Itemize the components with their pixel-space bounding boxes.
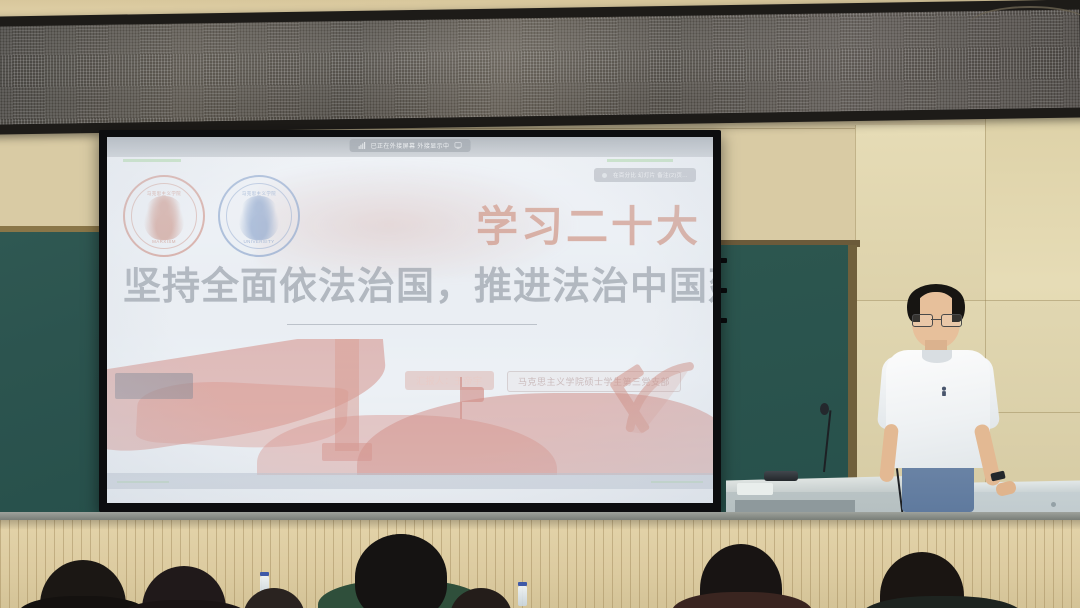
presenter-student <box>880 278 1020 538</box>
water-bottle <box>518 586 527 606</box>
water-bottle-cap <box>260 572 269 576</box>
slat-wall-shadow <box>0 520 1080 530</box>
projection-screen[interactable]: 已正在外接屏幕 外接显示中 在百分比 幻灯片 备注(2)页... <box>107 137 713 503</box>
presenter-tshirt <box>886 350 990 468</box>
os-status-bar: 已正在外接屏幕 外接显示中 <box>107 137 713 157</box>
seal-ring-text-bottom: MARXISM <box>152 239 176 244</box>
seal-ring-text-top: 马克思主义学院 <box>147 191 181 197</box>
desk-control-box <box>737 483 773 495</box>
artwork-dark-patch <box>115 373 193 399</box>
external-display-toast: 已正在外接屏幕 外接显示中 <box>350 139 471 152</box>
classroom-photo-scene: 已正在外接屏幕 外接显示中 在百分比 幻灯片 备注(2)页... <box>0 0 1080 608</box>
hammer-and-sickle-icon <box>609 351 705 447</box>
led-glare <box>0 9 1080 124</box>
microphone-head-1 <box>820 403 829 415</box>
drag-handle-icon[interactable] <box>602 173 607 178</box>
water-bottle-cap <box>518 582 527 586</box>
artwork-accent-line-right <box>651 481 703 483</box>
podium-screw <box>1051 502 1056 507</box>
slide-subheading: 坚持全面依法治国，推进法治中国建设 <box>123 255 713 310</box>
glasses-icon <box>912 314 960 325</box>
presenter-arm-left <box>879 423 899 482</box>
wristwatch-icon <box>990 471 1005 482</box>
powerpoint-slide: 马克思主义学院 MARXISM 马克思主义学院 UNIVERSITY 学习二十大… <box>107 157 713 503</box>
led-matrix-surface <box>0 9 1080 124</box>
ppt-toolbar-text[interactable]: 在百分比 幻灯片 备注(2)页... <box>613 171 688 179</box>
slide-artwork <box>107 339 713 489</box>
accent-tick-right <box>607 159 673 162</box>
seal-group: 马克思主义学院 MARXISM 马克思主义学院 UNIVERSITY <box>123 175 300 257</box>
microphone-base-1 <box>764 471 798 481</box>
ppt-floating-toolbar[interactable]: 在百分比 幻灯片 备注(2)页... <box>594 168 696 182</box>
seal-ring-text-bottom: UNIVERSITY <box>243 239 274 244</box>
school-seal-blue: 马克思主义学院 UNIVERSITY <box>218 175 300 257</box>
led-matrix-display <box>0 0 1080 135</box>
presenter-collar <box>922 350 952 363</box>
display-icon <box>454 142 461 149</box>
toast-text: 已正在外接屏幕 外接显示中 <box>371 141 450 150</box>
slide-heading: 学习二十大 <box>476 193 701 254</box>
accent-tick-left <box>123 159 181 162</box>
artwork-accent-line-left <box>117 481 169 483</box>
signal-icon <box>359 142 366 149</box>
artwork-base-band <box>107 473 713 489</box>
seal-ring-text-top: 马克思主义学院 <box>242 191 276 197</box>
marx-portrait-icon <box>239 196 279 240</box>
school-seal-red: 马克思主义学院 MARXISM <box>123 175 205 257</box>
marx-portrait-icon <box>144 196 184 240</box>
tshirt-logo-icon <box>940 386 948 397</box>
slide-divider <box>287 324 537 325</box>
wall-panel-upper-right <box>855 125 990 300</box>
projection-screen-frame: 已正在外接屏幕 外接显示中 在百分比 幻灯片 备注(2)页... <box>99 130 721 512</box>
